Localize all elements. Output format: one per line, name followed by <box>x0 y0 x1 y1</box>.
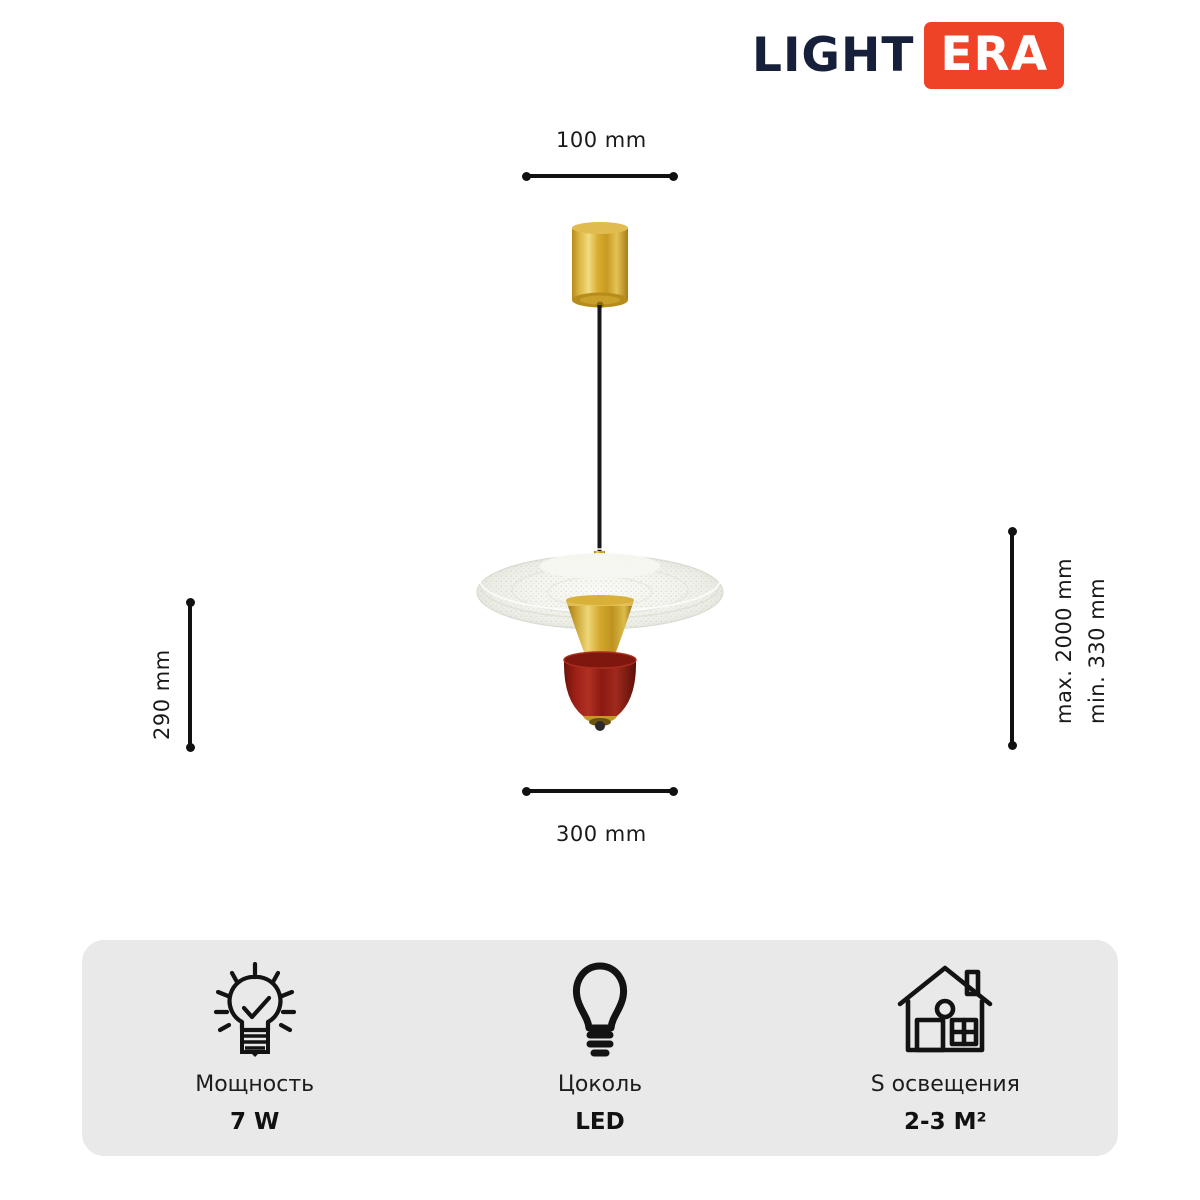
bulb-icon <box>565 962 635 1058</box>
specifications-panel: Мощность 7 W Цоколь LED <box>82 940 1118 1156</box>
bulb-check-icon <box>212 962 298 1058</box>
spec-item-socket: Цоколь LED <box>427 940 772 1156</box>
spec-value-socket: LED <box>575 1109 624 1135</box>
spec-label-power: Мощность <box>195 1072 314 1097</box>
ceiling-canopy <box>572 222 628 309</box>
spec-value-area: 2-3 M² <box>904 1109 987 1135</box>
spec-item-power: Мощность 7 W <box>82 940 427 1156</box>
spec-item-area: S освещения 2-3 M² <box>773 940 1118 1156</box>
spec-label-socket: Цоколь <box>558 1072 642 1097</box>
suspension-cord <box>598 305 602 557</box>
house-icon <box>895 962 995 1058</box>
red-cup-shade <box>564 652 636 731</box>
spec-label-area: S освещения <box>871 1072 1020 1097</box>
product-illustration <box>0 0 1200 930</box>
spec-value-power: 7 W <box>230 1109 279 1135</box>
